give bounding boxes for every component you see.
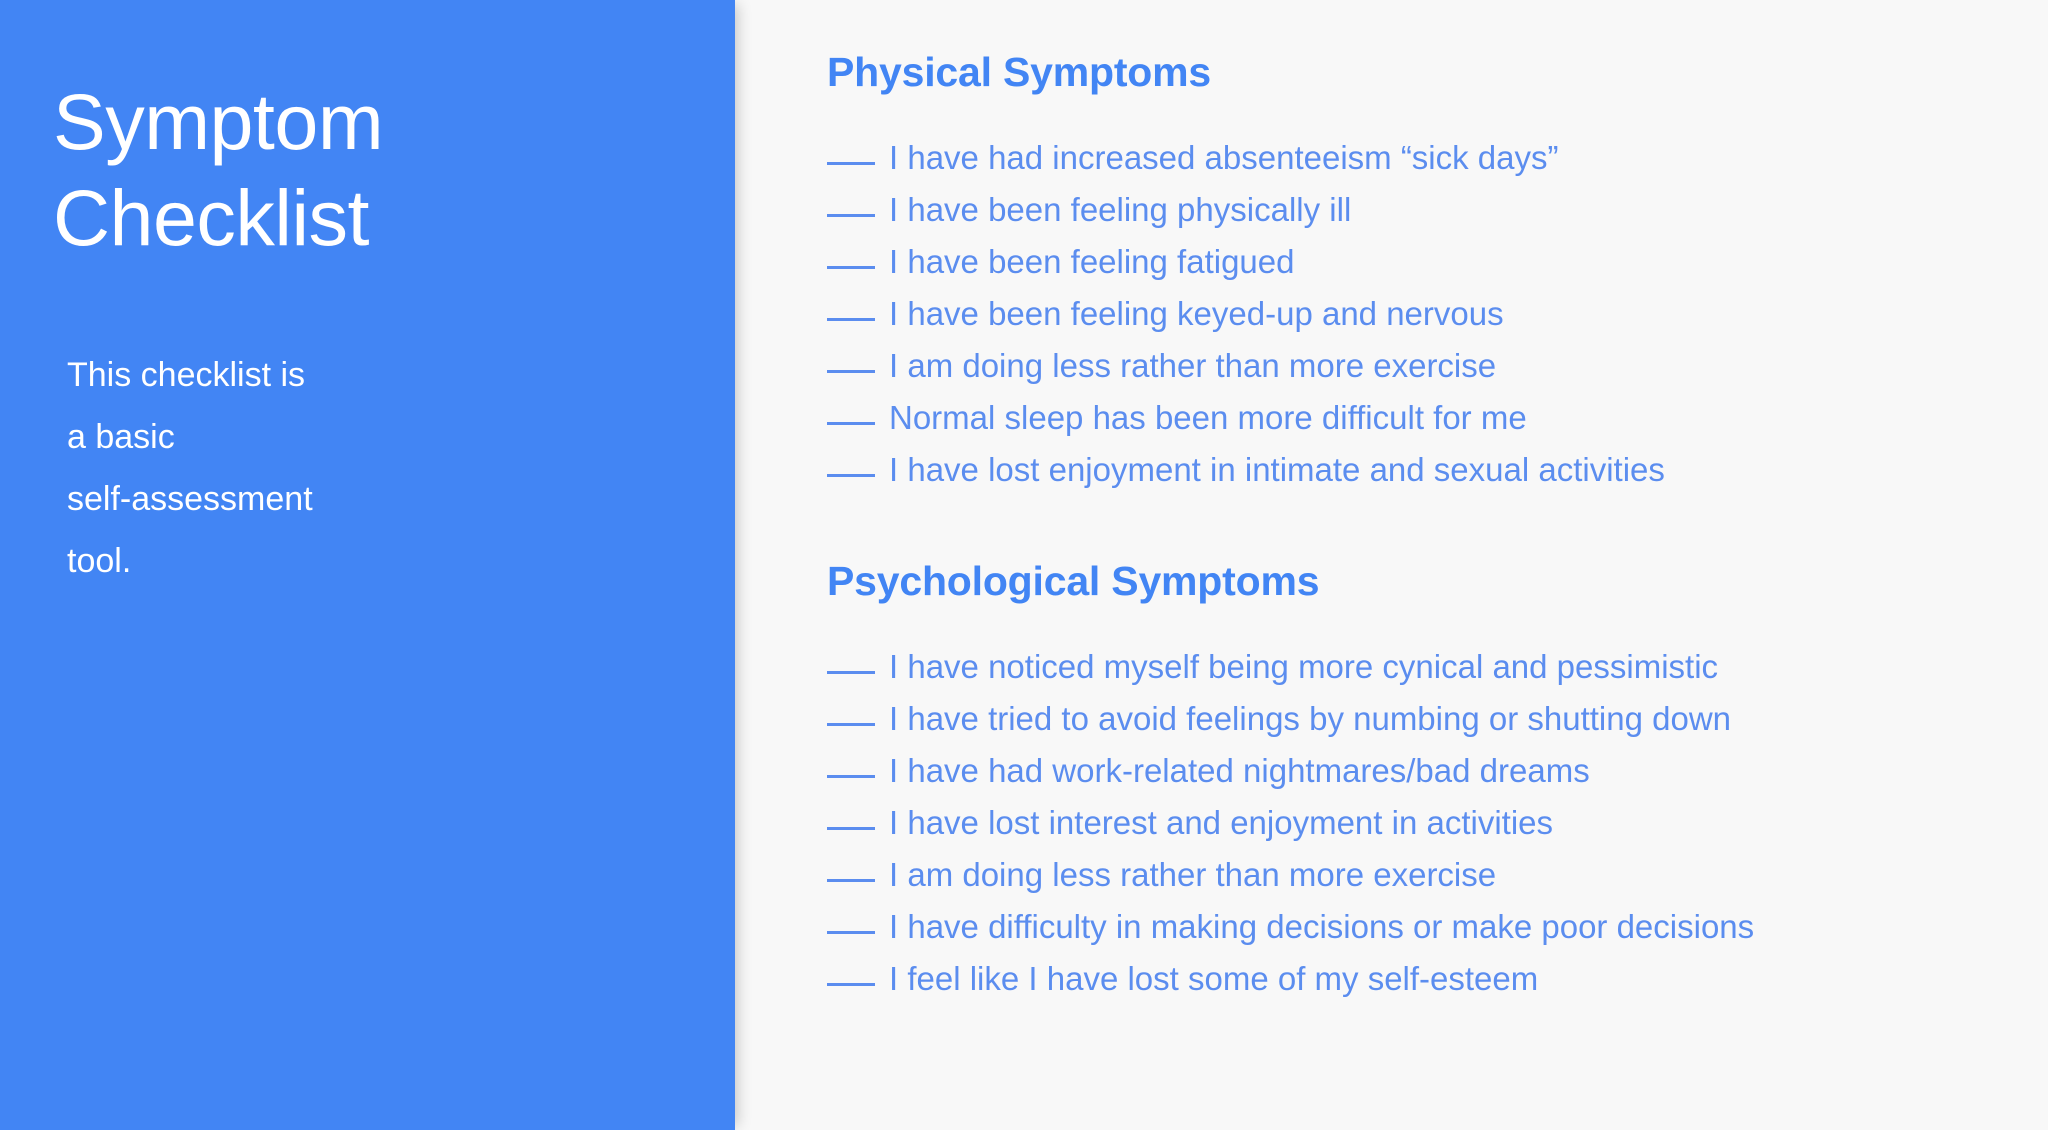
list-item[interactable]: I have been feeling keyed-up and nervous — [827, 288, 2048, 340]
list-item[interactable]: Normal sleep has been more difficult for… — [827, 392, 2048, 444]
blank-underscore-field[interactable] — [827, 266, 875, 269]
blank-underscore-field[interactable] — [827, 370, 875, 373]
symptom-list-physical: I have had increased absenteeism “sick d… — [827, 97, 2048, 496]
list-item[interactable]: I feel like I have lost some of my self-… — [827, 953, 2048, 1005]
sidebar-panel: Symptom Checklist This checklist is a ba… — [0, 0, 735, 1130]
blank-underscore-field[interactable] — [827, 422, 875, 425]
symptom-label: I feel like I have lost some of my self-… — [889, 953, 1538, 1005]
symptom-label: I am doing less rather than more exercis… — [889, 849, 1496, 901]
sidebar-description: This checklist is a basic self-assessmen… — [53, 266, 427, 592]
list-item[interactable]: I have difficulty in making decisions or… — [827, 901, 2048, 953]
list-item[interactable]: I have had work-related nightmares/bad d… — [827, 745, 2048, 797]
list-item[interactable]: I have lost enjoyment in intimate and se… — [827, 444, 2048, 496]
blank-underscore-field[interactable] — [827, 931, 875, 934]
list-item[interactable]: I have tried to avoid feelings by numbin… — [827, 693, 2048, 745]
list-item[interactable]: I am doing less rather than more exercis… — [827, 849, 2048, 901]
blank-underscore-field[interactable] — [827, 983, 875, 986]
symptom-label: I have noticed myself being more cynical… — [889, 641, 1718, 693]
section-heading-physical: Physical Symptoms — [827, 47, 2048, 97]
list-item[interactable]: I have noticed myself being more cynical… — [827, 641, 2048, 693]
symptom-label: I have lost interest and enjoyment in ac… — [889, 797, 1553, 849]
symptom-label: I have been feeling physically ill — [889, 184, 1351, 236]
section-physical-symptoms: Physical Symptoms I have had increased a… — [827, 47, 2048, 496]
blank-underscore-field[interactable] — [827, 671, 875, 674]
blank-underscore-field[interactable] — [827, 775, 875, 778]
page-title: Symptom Checklist — [53, 74, 679, 266]
slide-root: Symptom Checklist This checklist is a ba… — [0, 0, 2048, 1130]
symptom-label: I have had increased absenteeism “sick d… — [889, 132, 1559, 184]
symptom-label: I have difficulty in making decisions or… — [889, 901, 1754, 953]
list-item[interactable]: I have lost interest and enjoyment in ac… — [827, 797, 2048, 849]
symptom-list-psychological: I have noticed myself being more cynical… — [827, 606, 2048, 1005]
list-item[interactable]: I have been feeling physically ill — [827, 184, 2048, 236]
list-item[interactable]: I have been feeling fatigued — [827, 236, 2048, 288]
symptom-label: I have tried to avoid feelings by numbin… — [889, 693, 1731, 745]
symptom-label: Normal sleep has been more difficult for… — [889, 392, 1527, 444]
symptom-label: I have been feeling fatigued — [889, 236, 1295, 288]
section-psychological-symptoms: Psychological Symptoms I have noticed my… — [827, 556, 2048, 1005]
blank-underscore-field[interactable] — [827, 827, 875, 830]
symptom-label: I have had work-related nightmares/bad d… — [889, 745, 1590, 797]
section-heading-psychological: Psychological Symptoms — [827, 556, 2048, 606]
blank-underscore-field[interactable] — [827, 723, 875, 726]
blank-underscore-field[interactable] — [827, 879, 875, 882]
blank-underscore-field[interactable] — [827, 318, 875, 321]
symptom-label: I am doing less rather than more exercis… — [889, 340, 1496, 392]
list-item[interactable]: I have had increased absenteeism “sick d… — [827, 132, 2048, 184]
symptom-label: I have been feeling keyed-up and nervous — [889, 288, 1504, 340]
checklist-content: Physical Symptoms I have had increased a… — [735, 0, 2048, 1130]
symptom-label: I have lost enjoyment in intimate and se… — [889, 444, 1665, 496]
blank-underscore-field[interactable] — [827, 474, 875, 477]
blank-underscore-field[interactable] — [827, 162, 875, 165]
blank-underscore-field[interactable] — [827, 214, 875, 217]
list-item[interactable]: I am doing less rather than more exercis… — [827, 340, 2048, 392]
